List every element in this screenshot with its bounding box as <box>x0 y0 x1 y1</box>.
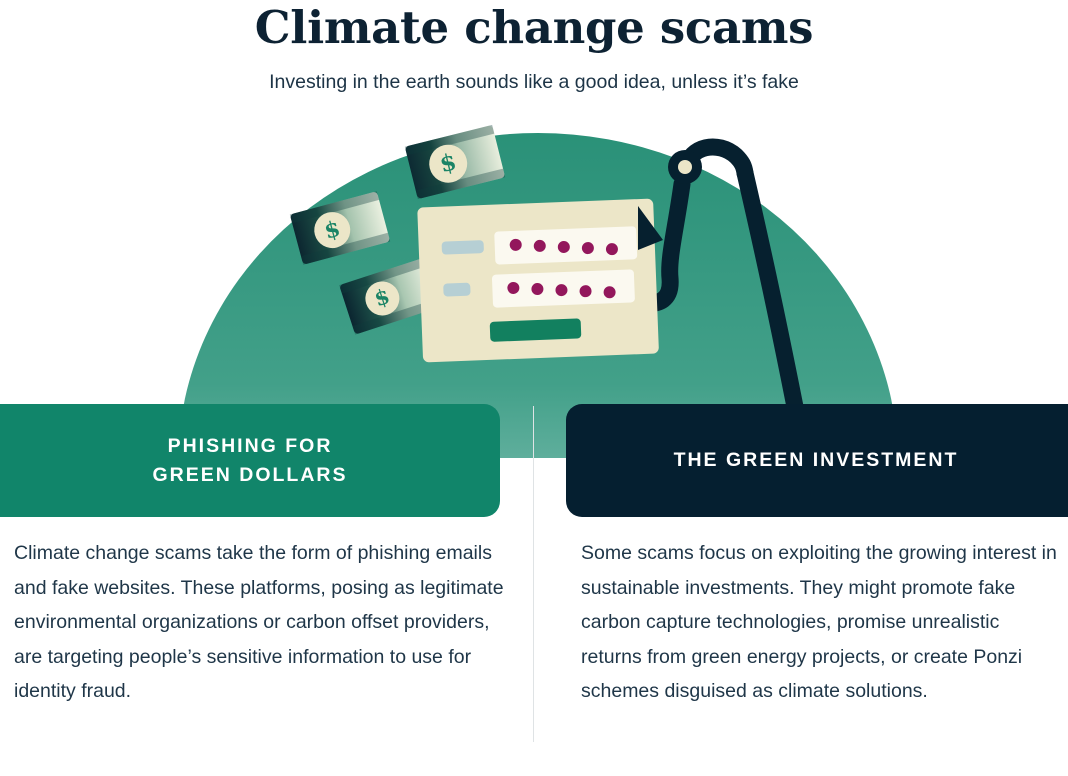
banner-label-line1: THE GREEN INVESTMENT <box>674 449 959 471</box>
header: Climate change scams Investing in the ea… <box>0 0 1068 95</box>
banner-label: PHISHING FOR GREEN DOLLARS <box>152 432 347 489</box>
banner-label-line1: PHISHING FOR <box>168 435 333 457</box>
username-label-pill <box>442 240 484 255</box>
banner-label-line2: GREEN DOLLARS <box>152 464 347 486</box>
password-label-pill <box>443 283 470 297</box>
username-input-field <box>494 226 637 264</box>
hook-eye-hole <box>678 160 692 174</box>
banner-label: THE GREEN INVESTMENT <box>674 446 959 474</box>
column-phishing-for-green-dollars: Climate change scams take the form of ph… <box>14 536 504 709</box>
submit-button <box>490 318 582 341</box>
login-form-card <box>417 199 659 363</box>
infographic-page: Climate change scams Investing in the ea… <box>0 0 1068 776</box>
page-subtitle: Investing in the earth sounds like a goo… <box>0 70 1068 95</box>
banner-phishing-for-green-dollars[interactable]: PHISHING FOR GREEN DOLLARS <box>0 404 500 517</box>
column-the-green-investment: Some scams focus on exploiting the growi… <box>581 536 1061 709</box>
body-text: Some scams focus on exploiting the growi… <box>581 536 1061 709</box>
body-text: Climate change scams take the form of ph… <box>14 536 504 709</box>
body-columns: Climate change scams take the form of ph… <box>0 536 1068 776</box>
section-banners: PHISHING FOR GREEN DOLLARS THE GREEN INV… <box>0 404 1068 518</box>
banner-the-green-investment[interactable]: THE GREEN INVESTMENT <box>566 404 1068 517</box>
password-input-field <box>492 269 635 307</box>
page-title: Climate change scams <box>0 2 1068 54</box>
